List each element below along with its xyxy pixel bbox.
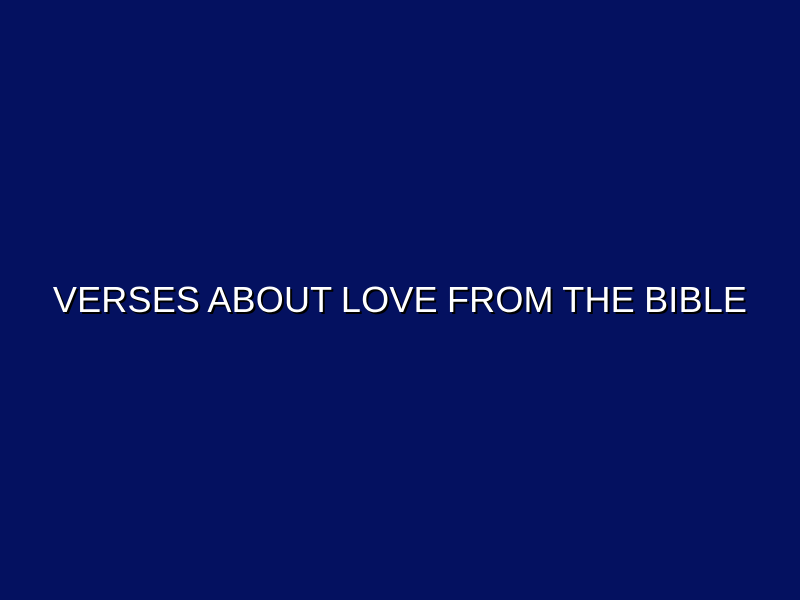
page-title: VERSES ABOUT LOVE FROM THE BIBLE [20, 281, 780, 319]
title-block: VERSES ABOUT LOVE FROM THE BIBLE [0, 281, 800, 319]
slide-canvas: VERSES ABOUT LOVE FROM THE BIBLE [0, 0, 800, 600]
